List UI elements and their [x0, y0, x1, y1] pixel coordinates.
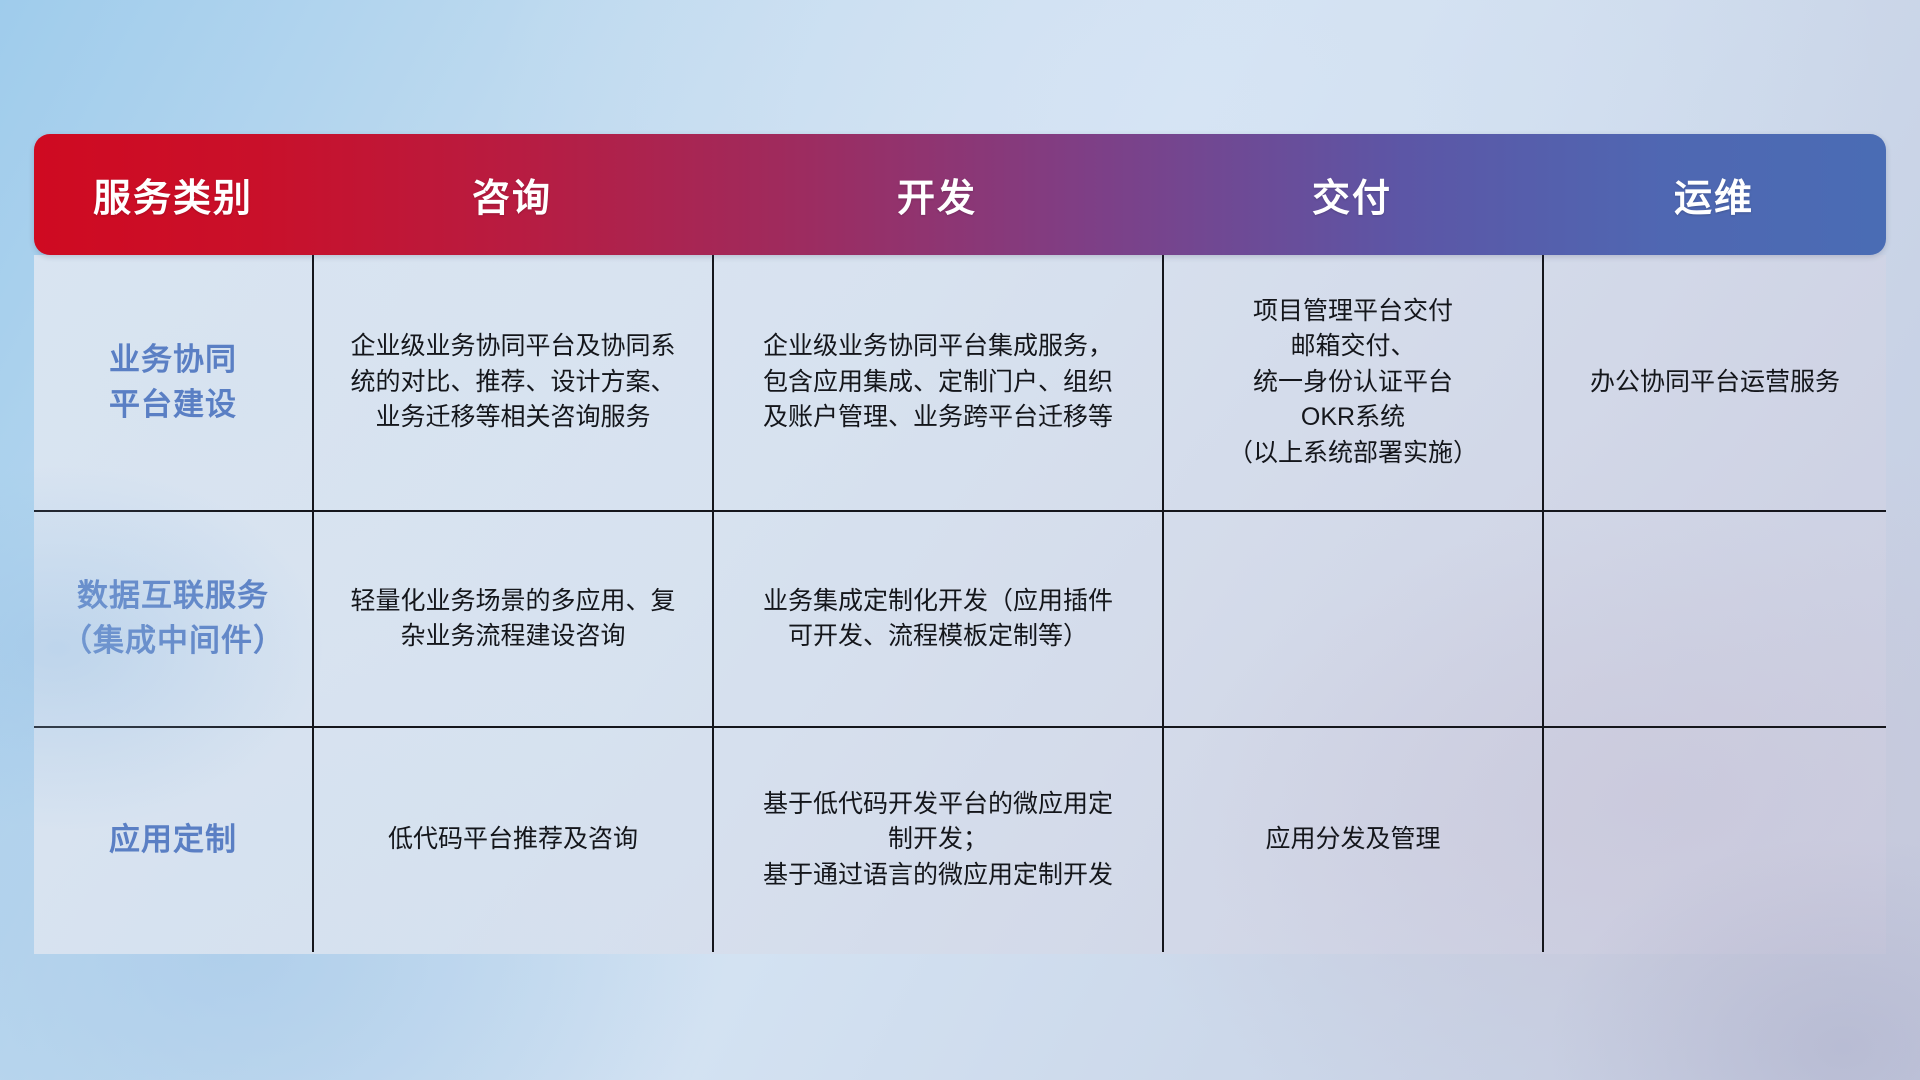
cell-development-row3: 基于低代码开发平台的微应用定 制开发； 基于通过语言的微应用定制开发 [712, 728, 1162, 952]
cell-development-row1: 企业级业务协同平台集成服务， 包含应用集成、定制门户、组织 及账户管理、业务跨平… [712, 255, 1162, 510]
row-label-business-collaboration: 业务协同 平台建设 [34, 255, 312, 510]
column-header-service-category: 服务类别 [34, 167, 312, 222]
column-header-operations: 运维 [1542, 167, 1886, 222]
cell-consulting-row1: 企业级业务协同平台及协同系 统的对比、推荐、设计方案、 业务迁移等相关咨询服务 [312, 255, 712, 510]
column-header-delivery: 交付 [1162, 167, 1542, 222]
service-matrix-table: 服务类别 咨询 开发 交付 运维 业务协同 平台建设 企业级业务协同平台及协同系… [34, 134, 1886, 954]
cell-consulting-row2: 轻量化业务场景的多应用、复 杂业务流程建设咨询 [312, 512, 712, 726]
cell-operations-row3 [1542, 728, 1886, 952]
row-label-data-interconnection: 数据互联服务 （集成中间件） [34, 512, 312, 726]
table-row: 应用定制 低代码平台推荐及咨询 基于低代码开发平台的微应用定 制开发； 基于通过… [34, 726, 1886, 952]
cell-delivery-row1: 项目管理平台交付 邮箱交付、 统一身份认证平台 OKR系统 （以上系统部署实施） [1162, 255, 1542, 510]
table-body: 业务协同 平台建设 企业级业务协同平台及协同系 统的对比、推荐、设计方案、 业务… [34, 255, 1886, 954]
cell-delivery-row2 [1162, 512, 1542, 726]
cell-operations-row2 [1542, 512, 1886, 726]
slide-canvas: 服务类别 咨询 开发 交付 运维 业务协同 平台建设 企业级业务协同平台及协同系… [0, 0, 1920, 1080]
cell-consulting-row3: 低代码平台推荐及咨询 [312, 728, 712, 952]
cell-operations-row1: 办公协同平台运营服务 [1542, 255, 1886, 510]
cell-delivery-row3: 应用分发及管理 [1162, 728, 1542, 952]
column-header-consulting: 咨询 [312, 167, 712, 222]
cell-development-row2: 业务集成定制化开发（应用插件 可开发、流程模板定制等） [712, 512, 1162, 726]
column-header-development: 开发 [712, 167, 1162, 222]
table-header-row: 服务类别 咨询 开发 交付 运维 [34, 134, 1886, 255]
row-label-application-customization: 应用定制 [34, 728, 312, 952]
table-row: 业务协同 平台建设 企业级业务协同平台及协同系 统的对比、推荐、设计方案、 业务… [34, 255, 1886, 510]
table-row: 数据互联服务 （集成中间件） 轻量化业务场景的多应用、复 杂业务流程建设咨询 业… [34, 510, 1886, 726]
